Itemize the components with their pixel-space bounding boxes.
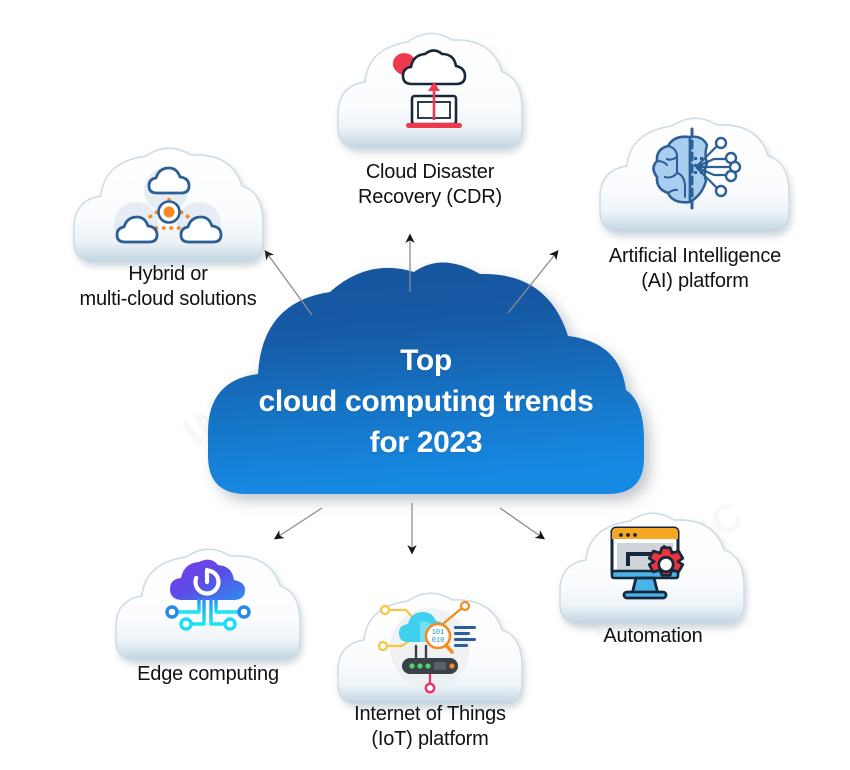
label-automation: Automation bbox=[545, 624, 761, 649]
edge-power-node-icon bbox=[156, 558, 260, 644]
node-hybrid-or-multi-cloud-solutions[interactable] bbox=[66, 148, 271, 274]
node-cloud-disaster-recovery[interactable] bbox=[330, 32, 530, 160]
node-edge-computing[interactable] bbox=[108, 548, 308, 672]
iot-router-cloud-icon: 101 010 bbox=[372, 598, 488, 694]
svg-text:010: 010 bbox=[432, 637, 445, 645]
node-internet-of-things-platform[interactable]: 101 010 bbox=[330, 592, 530, 716]
label-edge-computing: Edge computing bbox=[100, 662, 316, 687]
automation-monitor-gear-icon bbox=[598, 522, 704, 610]
node-automation[interactable] bbox=[552, 512, 752, 636]
cloud-backup-icon bbox=[382, 48, 478, 132]
ai-brain-circuit-icon bbox=[644, 127, 744, 213]
label-cloud-disaster-recovery: Cloud Disaster Recovery (CDR) bbox=[320, 160, 540, 210]
label-internet-of-things-platform: Internet of Things (IoT) platform bbox=[320, 702, 540, 752]
label-hybrid-or-multi-cloud-solutions: Hybrid or multi-cloud solutions bbox=[50, 262, 286, 312]
multi-cloud-network-icon bbox=[113, 166, 225, 250]
infographic-canvas: INFOSEC INFOSEC Top cloud computing tren… bbox=[0, 0, 850, 770]
svg-text:101: 101 bbox=[432, 629, 445, 637]
center-title: Top cloud computing trends for 2023 bbox=[216, 340, 636, 463]
node-artificial-intelligence-platform[interactable] bbox=[592, 118, 797, 244]
label-artificial-intelligence-platform: Artificial Intelligence (AI) platform bbox=[585, 244, 805, 294]
